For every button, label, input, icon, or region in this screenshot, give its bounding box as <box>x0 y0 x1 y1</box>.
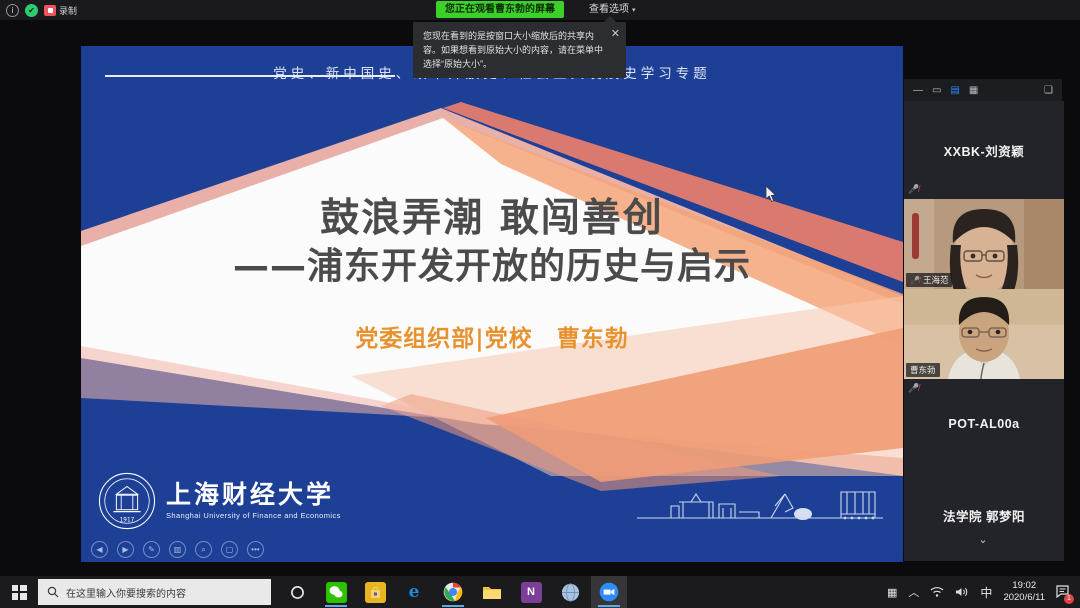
taskbar-app-onenote[interactable]: N <box>513 576 549 608</box>
participant-name-1: XXBK-刘资颖 <box>944 141 1024 160</box>
shield-check-icon[interactable]: ✔ <box>25 4 38 17</box>
previous-slide-button[interactable]: ◀ <box>91 541 108 558</box>
slide-title-line1: 鼓浪弄潮 敢闯善创 <box>81 196 903 242</box>
system-tray: ▦ ︿ 中 19:02 2020/6/11 1 <box>887 580 1080 604</box>
mic-off-icon-4: 🎤̸ <box>908 383 919 394</box>
info-icon[interactable]: i <box>6 4 19 17</box>
share-status-group: i ✔ 录制 <box>6 0 77 20</box>
svg-text:1917: 1917 <box>120 517 135 523</box>
taskbar-app-browser[interactable] <box>552 576 588 608</box>
university-name-en: Shanghai University of Finance and Econo… <box>166 511 341 520</box>
show-hidden-icons-chevron[interactable]: ︿ <box>908 584 919 600</box>
google-chrome-icon <box>443 582 463 602</box>
maximize-icon[interactable]: ▭ <box>932 85 941 96</box>
popout-icon[interactable]: ❏ <box>1044 85 1053 96</box>
participant-tile-1[interactable]: XXBK-刘资颖 🎤̸ <box>904 101 1064 199</box>
search-placeholder-text: 在这里输入你要搜索的内容 <box>66 585 186 600</box>
expand-panel-chevron-icon[interactable]: ⌄ <box>904 529 1062 549</box>
taskbar-app-list: e N <box>279 576 627 608</box>
keyboard-icon[interactable]: ▦ <box>887 586 897 599</box>
microsoft-edge-icon: e <box>404 582 425 603</box>
pen-tool-icon[interactable]: ✎ <box>143 541 160 558</box>
participant-badge-2: 🎤̸ 王海范 <box>906 273 952 287</box>
globe-icon <box>561 583 580 602</box>
sharing-notice-chip[interactable]: 您正在观看曹东勃的屏幕 <box>436 1 564 18</box>
powerpoint-slideshow-controls: ◀ ▶ ✎ ▥ ⌕ ▢ ••• <box>91 541 264 558</box>
recording-indicator[interactable]: 录制 <box>44 4 77 17</box>
chevron-down-icon: ▾ <box>632 7 636 14</box>
university-name-cn: 上海财经大学 <box>166 482 341 508</box>
clock-time: 19:02 <box>1003 580 1045 592</box>
clock-date: 2020/6/11 <box>1003 592 1045 604</box>
close-icon[interactable]: ✕ <box>611 27 620 41</box>
record-icon <box>44 5 56 16</box>
taskbar-app-microsoft-store[interactable] <box>357 576 393 608</box>
mic-off-icon-1: 🎤̸ <box>908 184 919 195</box>
mouse-cursor-icon <box>766 186 778 203</box>
onenote-icon: N <box>521 582 542 603</box>
zoom-share-topbar: i ✔ 录制 您正在观看曹东勃的屏幕 查看选项▾ <box>0 0 1080 20</box>
wechat-icon <box>326 582 347 603</box>
university-seal-icon: 1917 <box>98 472 156 530</box>
tooltip-tail <box>604 16 616 22</box>
volume-icon[interactable] <box>955 586 969 598</box>
start-button[interactable] <box>0 576 38 608</box>
clock[interactable]: 19:02 2020/6/11 <box>1003 580 1045 604</box>
city-skyline-illustration <box>635 472 885 528</box>
notification-badge: 1 <box>1064 594 1074 604</box>
screen-root: i ✔ 录制 您正在观看曹东勃的屏幕 查看选项▾ ✕ 您现在看到的是按窗口大小缩… <box>0 0 1080 608</box>
participant-name-2: 王海范 <box>923 274 949 286</box>
blank-screen-icon[interactable]: ▢ <box>221 541 238 558</box>
participant-name-3: 曹东勃 <box>910 364 936 376</box>
windows-taskbar: 在这里输入你要搜索的内容 e <box>0 576 1080 608</box>
windows-logo-icon <box>12 585 27 600</box>
slide-title-line2: ——浦东开发开放的历史与启示 <box>81 244 903 289</box>
microsoft-store-icon <box>365 582 386 603</box>
participant-name-5: 法学院 郭梦阳 <box>943 506 1025 525</box>
more-options-icon[interactable]: ••• <box>247 541 264 558</box>
taskbar-app-zoom-meeting[interactable] <box>591 576 627 608</box>
view-options-label: 查看选项 <box>589 4 629 15</box>
all-slides-icon[interactable]: ▥ <box>169 541 186 558</box>
search-icon <box>47 586 59 598</box>
slide-title-block: 鼓浪弄潮 敢闯善创 ——浦东开发开放的历史与启示 党委组织部|党校 曹东勃 <box>81 196 903 353</box>
taskbar-app-file-explorer[interactable] <box>474 576 510 608</box>
shared-screen-powerpoint[interactable]: 党史、新中国史、改革开放史、社会主义发展史学习专题 鼓浪弄潮 敢闯善创 ——浦东… <box>81 46 903 562</box>
university-logo: 1917 上海财经大学 Shanghai University of Finan… <box>98 472 341 530</box>
taskbar-app-google-chrome[interactable] <box>435 576 471 608</box>
minimize-icon[interactable]: — <box>913 85 923 96</box>
university-logo-text: 上海财经大学 Shanghai University of Finance an… <box>166 482 341 520</box>
cortana-button[interactable] <box>279 576 315 608</box>
participant-name-4: POT-AL00a <box>948 417 1019 431</box>
zoom-participants-panel: — ▭ ▤ ▦ ❏ XXBK-刘资颖 🎤̸ <box>903 78 1063 550</box>
taskbar-app-wechat[interactable] <box>318 576 354 608</box>
slide-author: 党委组织部|党校 曹东勃 <box>81 319 903 353</box>
recording-label: 录制 <box>59 4 77 17</box>
slide-canvas: 党史、新中国史、改革开放史、社会主义发展史学习专题 鼓浪弄潮 敢闯善创 ——浦东… <box>81 46 903 562</box>
participant-tile-2[interactable]: 🎤̸ 王海范 <box>904 199 1064 289</box>
mic-off-icon-2: 🎤̸ <box>910 276 920 285</box>
search-input[interactable]: 在这里输入你要搜索的内容 <box>38 579 271 605</box>
next-slide-button[interactable]: ▶ <box>117 541 134 558</box>
scaled-share-tooltip: ✕ 您现在看到的是按窗口大小缩放后的共享内容。如果想看到原始大小的内容，请在菜单… <box>413 22 626 78</box>
folder-icon <box>482 584 502 601</box>
ime-indicator[interactable]: 中 <box>980 584 992 601</box>
panel-toolbar: — ▭ ▤ ▦ ❏ <box>904 79 1062 101</box>
zoom-in-icon[interactable]: ⌕ <box>195 541 212 558</box>
notification-center-button[interactable]: 1 <box>1056 584 1071 601</box>
tooltip-text: 您现在看到的是按窗口大小缩放后的共享内容。如果想看到原始大小的内容，请在菜单中选… <box>423 31 603 69</box>
speaker-view-icon[interactable]: ▤ <box>950 85 959 96</box>
cortana-icon <box>290 585 305 600</box>
network-icon[interactable] <box>930 586 944 598</box>
participant-badge-3: 曹东勃 <box>906 363 940 377</box>
gallery-view-icon[interactable]: ▦ <box>969 85 978 96</box>
taskbar-app-microsoft-edge[interactable]: e <box>396 576 432 608</box>
participant-tile-4[interactable]: POT-AL00a 🎤̸ <box>904 379 1064 469</box>
zoom-icon <box>599 582 619 602</box>
participant-tile-3[interactable]: 曹东勃 <box>904 289 1064 379</box>
